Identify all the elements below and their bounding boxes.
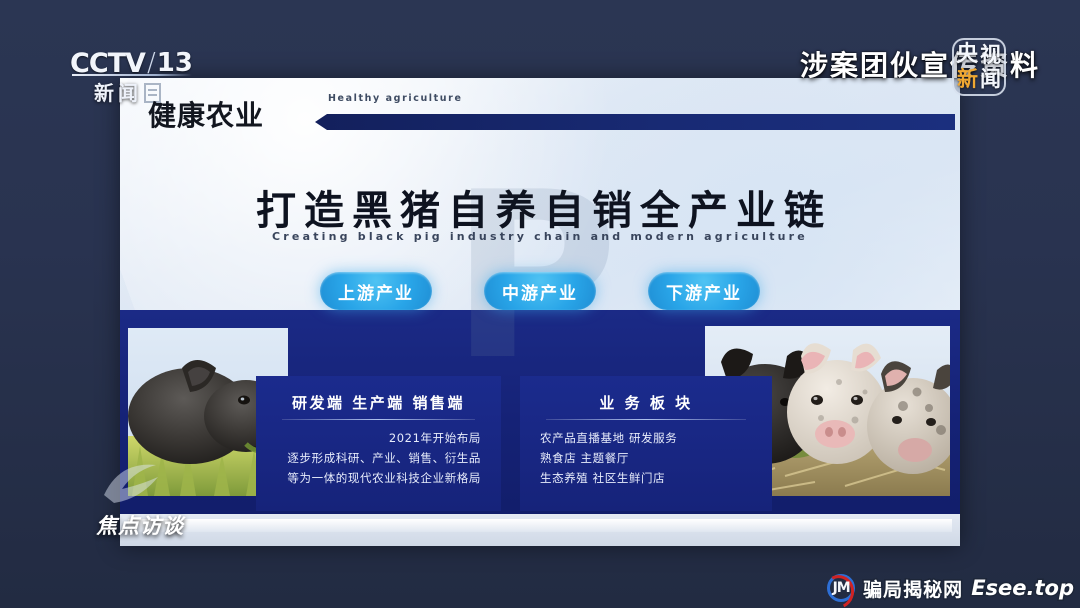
- jm-logo-icon: JM: [827, 574, 855, 602]
- card-line: 熟食店 主题餐厅: [540, 449, 752, 469]
- slide-header: 健康农业 Healthy agriculture: [120, 78, 960, 140]
- slide-main-subheading: Creating black pig industry chain and mo…: [120, 230, 960, 243]
- program-logo: 焦点访谈: [96, 510, 184, 540]
- card-divider: [282, 419, 475, 420]
- broadcast-frame: P 健康农业 Healthy agriculture 打造黑猪自养自销全产业链 …: [0, 0, 1080, 608]
- badge-char-shi: 视: [980, 45, 1001, 66]
- card-business-segments: 业 务 板 块 农产品直播基地 研发服务 熟食店 主题餐厅 生态养殖 社区生鲜门…: [520, 376, 772, 511]
- pill-upstream[interactable]: 上游产业: [320, 272, 432, 310]
- card-title: 研发端 生产端 销售端: [276, 392, 481, 413]
- watermark-site-domain: Esee.top: [971, 576, 1074, 600]
- card-line: 等为一体的现代农业科技企业新格局: [276, 469, 481, 489]
- card-body: 2021年开始布局 逐步形成科研、产业、销售、衍生品 等为一体的现代农业科技企业…: [276, 429, 481, 488]
- badge-char-xin: 新: [957, 69, 978, 90]
- presentation-slide: P 健康农业 Healthy agriculture 打造黑猪自养自销全产业链 …: [120, 78, 960, 546]
- cctv-news-watermark-badge: 央 视 新 闻: [952, 38, 1006, 96]
- card-divider: [546, 419, 746, 420]
- pill-downstream[interactable]: 下游产业: [648, 272, 760, 310]
- header-arrow-bar: [315, 114, 955, 130]
- site-watermark: JM 骗局揭秘网 Esee.top: [827, 574, 1074, 602]
- jm-letters: JM: [833, 580, 850, 596]
- slide-main-heading: 打造黑猪自养自销全产业链: [120, 178, 960, 236]
- badge-char-yang: 央: [956, 44, 978, 66]
- watermark-site-name: 骗局揭秘网: [863, 575, 963, 602]
- pill-midstream[interactable]: 中游产业: [484, 272, 596, 310]
- card-line: 逐步形成科研、产业、销售、衍生品: [276, 449, 481, 469]
- slide-footer-strip: [128, 519, 952, 532]
- slide-footer-bar: [120, 514, 960, 546]
- card-line: 2021年开始布局: [276, 429, 481, 449]
- cctv-channel-subtitle: 新闻: [94, 77, 142, 106]
- card-title: 业 务 板 块: [540, 392, 752, 413]
- card-line: 生态养殖 社区生鲜门店: [540, 469, 752, 489]
- slide-title: 健康农业: [148, 94, 264, 134]
- card-body: 农产品直播基地 研发服务 熟食店 主题餐厅 生态养殖 社区生鲜门店: [540, 429, 752, 488]
- cctv-logo-underline: [72, 74, 192, 76]
- slide-header-english: Healthy agriculture: [328, 93, 463, 104]
- industry-stage-pill-row: 上游产业 中游产业 下游产业: [120, 272, 960, 310]
- program-swoosh-icon: [100, 455, 172, 511]
- card-line: 农产品直播基地 研发服务: [540, 429, 752, 449]
- badge-char-wen: 闻: [980, 69, 1001, 90]
- card-rd-production-sales: 研发端 生产端 销售端 2021年开始布局 逐步形成科研、产业、销售、衍生品 等…: [256, 376, 501, 511]
